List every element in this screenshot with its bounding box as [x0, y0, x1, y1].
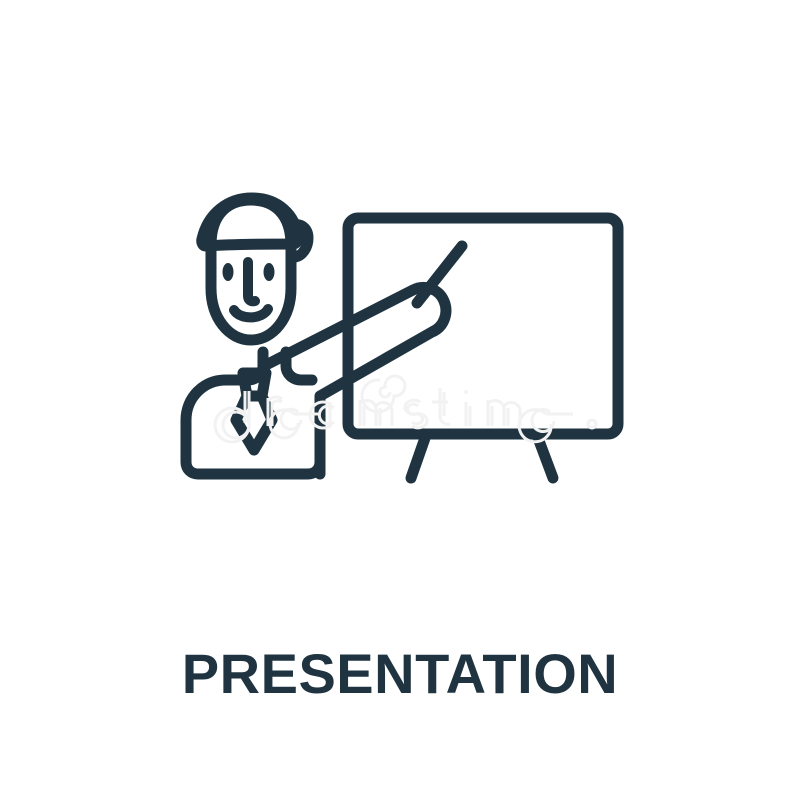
- board-leg-left: [411, 438, 425, 478]
- presentation-board: [348, 218, 618, 434]
- presenter-nose: [248, 262, 255, 301]
- icon-canvas: PRESENTATION: [0, 0, 800, 800]
- presenter-eye-left: [223, 263, 234, 281]
- presenter-mouth: [234, 309, 268, 317]
- board-leg-right: [538, 438, 553, 478]
- presenter-eye-right: [264, 263, 275, 281]
- page-title: PRESENTATION: [0, 643, 800, 705]
